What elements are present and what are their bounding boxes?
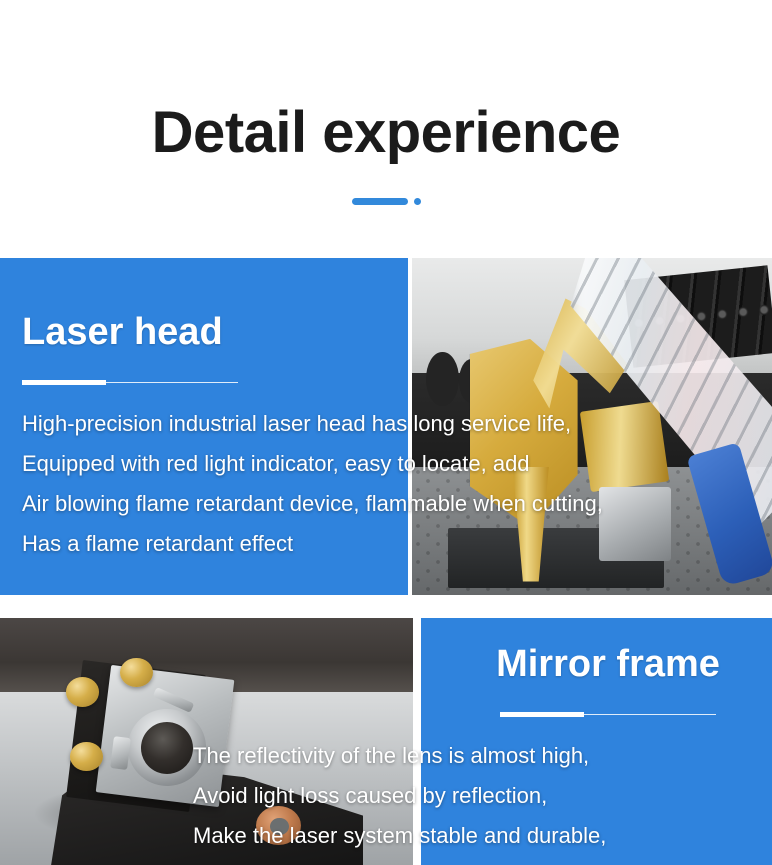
mirror-frame-text-block: Mirror frame The reflectivity of the len… bbox=[443, 645, 772, 856]
description-line: Equipped with red light indicator, easy … bbox=[22, 444, 742, 484]
page-header: Detail experience bbox=[0, 0, 772, 205]
photo-brass-screw bbox=[120, 658, 153, 688]
heading-underline bbox=[22, 380, 238, 386]
mirror-frame-heading: Mirror frame bbox=[443, 645, 772, 683]
description-line: Avoid light loss caused by reflection, bbox=[193, 776, 772, 816]
laser-head-heading: Laser head bbox=[22, 313, 742, 351]
photo-brass-screw bbox=[66, 677, 99, 707]
description-line: Has a flame retardant effect bbox=[22, 524, 742, 564]
title-decoration bbox=[0, 197, 772, 205]
heading-underline-thick bbox=[500, 712, 584, 717]
laser-head-text-block: Laser head High-precision industrial las… bbox=[22, 313, 742, 564]
feature-section-laser-head: Laser head High-precision industrial las… bbox=[0, 258, 772, 595]
description-line: Air blowing flame retardant device, flam… bbox=[22, 484, 742, 524]
photo-brass-screw bbox=[70, 742, 103, 772]
photo-adjust-pin bbox=[110, 736, 130, 770]
feature-section-mirror-frame: Mirror frame The reflectivity of the len… bbox=[0, 618, 772, 865]
accent-dot-icon bbox=[414, 198, 421, 205]
section-divider bbox=[0, 595, 772, 618]
mirror-frame-description: The reflectivity of the lens is almost h… bbox=[193, 736, 772, 856]
heading-underline-thick bbox=[22, 380, 106, 385]
page-title: Detail experience bbox=[0, 104, 772, 162]
heading-underline bbox=[500, 712, 716, 718]
description-line: The reflectivity of the lens is almost h… bbox=[193, 736, 772, 776]
accent-bar-icon bbox=[352, 198, 408, 205]
description-line: High-precision industrial laser head has… bbox=[22, 404, 742, 444]
description-line: Make the laser system stable and durable… bbox=[193, 816, 772, 856]
laser-head-description: High-precision industrial laser head has… bbox=[22, 404, 742, 564]
